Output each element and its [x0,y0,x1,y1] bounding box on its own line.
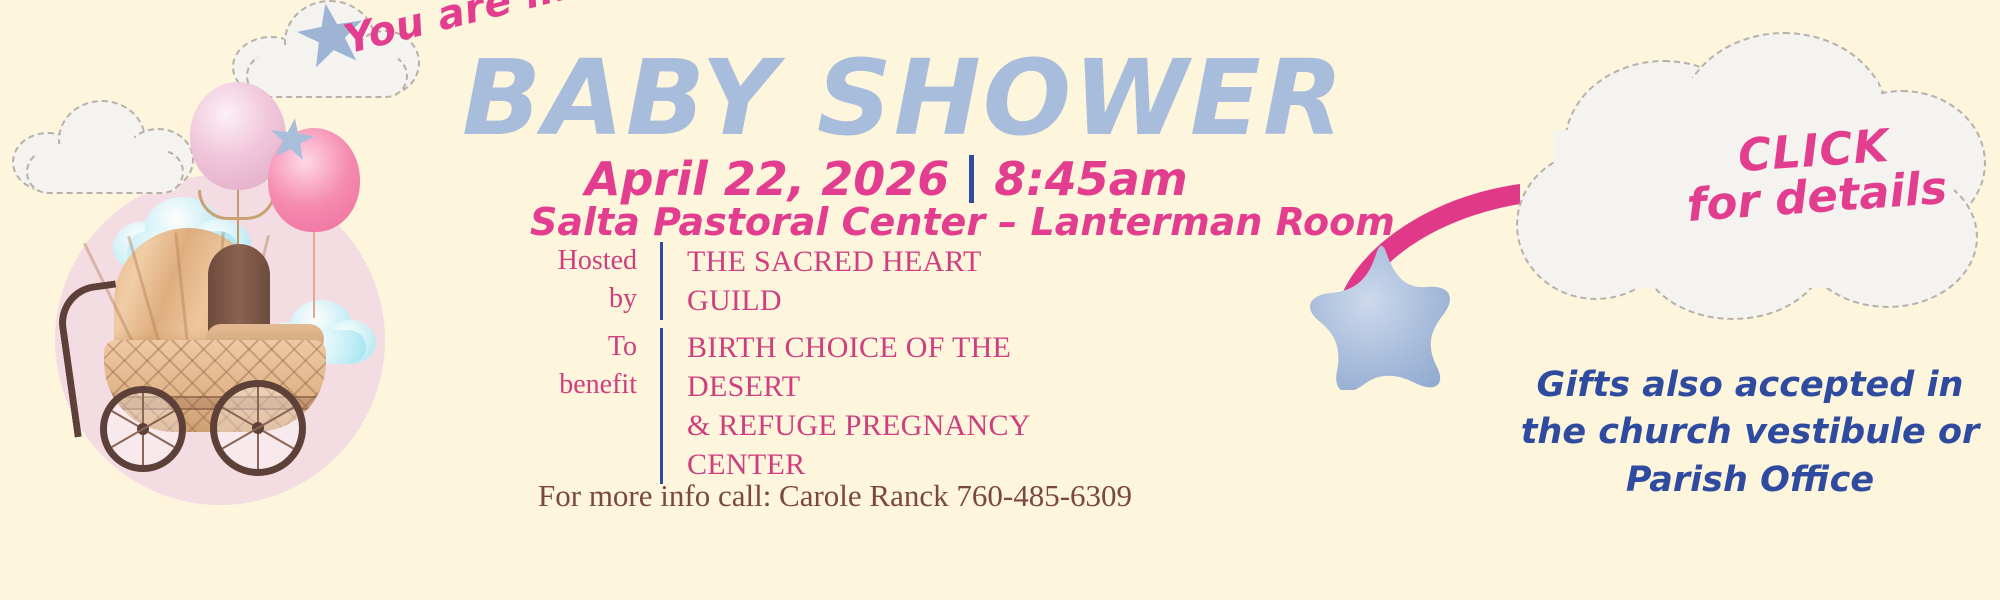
credit-label: To benefit [530,328,655,404]
credit-value: THE SACRED HEART GUILD [667,242,1070,320]
event-dateline: April 22, 2026 8:45am [585,152,1188,206]
left-illustration [0,0,460,600]
credits-block: Hosted by THE SACRED HEART GUILD To bene… [530,242,1070,492]
star-icon [1307,245,1457,390]
baby-carriage-icon [58,228,358,478]
credit-value: BIRTH CHOICE OF THE DESERT & REFUGE PREG… [667,328,1070,484]
baby-shower-banner[interactable]: You are invited to a BABY SHOWER April 2… [0,0,2000,600]
divider [660,242,663,320]
divider [969,155,974,203]
divider [660,328,663,484]
credit-row: To benefit BIRTH CHOICE OF THE DESERT & … [530,328,1070,484]
cloud-icon [10,92,200,192]
event-venue: Salta Pastoral Center – Lanterman Room [530,200,1395,244]
contact-info: For more info call: Carole Ranck 760-485… [538,478,1132,514]
event-time: 8:45am [994,152,1187,206]
event-date: April 22, 2026 [585,152,949,206]
credit-label: Hosted by [530,242,655,318]
credit-row: Hosted by THE SACRED HEART GUILD [530,242,1070,320]
gifts-notice: Gifts also accepted in the church vestib… [1515,362,1985,504]
click-for-details-callout[interactable]: CLICK for details [1682,119,1948,229]
page-title: BABY SHOWER [462,46,1345,150]
